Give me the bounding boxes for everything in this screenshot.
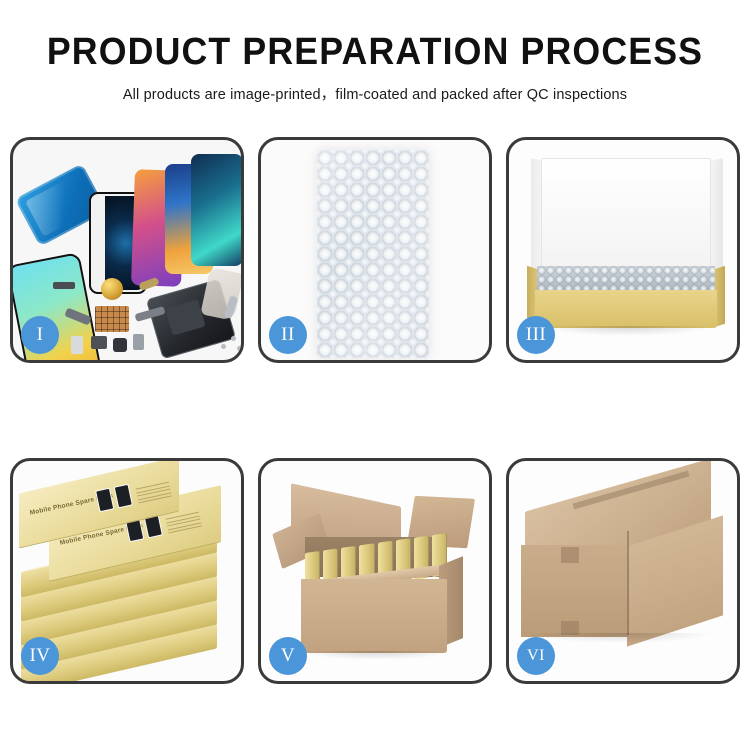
drop-shadow xyxy=(539,326,715,336)
screw-icon xyxy=(221,344,226,349)
page-subtitle: All products are image-printed，film-coat… xyxy=(0,86,750,104)
step-panel-4: Mobile Phone Spare Parts Mobile Phone Sp… xyxy=(10,458,244,684)
cyan-yellow-phone-icon xyxy=(10,252,102,363)
step-panel-6: VI xyxy=(506,458,740,684)
repair-tool-icon xyxy=(200,267,243,321)
step-panel-5: V xyxy=(258,458,492,684)
product-thumbnail xyxy=(95,488,114,513)
box-lid-icon xyxy=(541,158,711,276)
battery-strip-icon xyxy=(53,282,75,289)
header: PRODUCT PREPARATION PROCESS All products… xyxy=(0,0,750,104)
carton-tape-top xyxy=(561,547,579,563)
step-badge-4: IV xyxy=(21,637,59,675)
wrap-sheen xyxy=(317,150,429,358)
bubble-wrap-icon xyxy=(317,150,429,358)
product-preparation-infographic: PRODUCT PREPARATION PROCESS All products… xyxy=(0,0,750,750)
sim-tray-icon xyxy=(71,336,83,354)
carton-front xyxy=(301,579,447,653)
step-panel-3: III xyxy=(506,137,740,363)
step-badge-3: III xyxy=(517,316,555,354)
gold-chip-icon xyxy=(101,278,123,300)
connector-grid-icon xyxy=(95,306,129,332)
yellow-box-front xyxy=(535,290,717,328)
step-panel-1: I xyxy=(10,137,244,363)
camera-module-icon xyxy=(113,338,127,352)
page-title: PRODUCT PREPARATION PROCESS xyxy=(23,30,728,74)
vibrator-module-icon xyxy=(133,334,144,350)
step-panel-2: II xyxy=(258,137,492,363)
teal-phone-icon xyxy=(191,154,243,266)
drop-shadow xyxy=(525,633,715,643)
drop-shadow xyxy=(301,651,451,660)
screw-icon xyxy=(237,346,242,351)
step-badge-2: II xyxy=(269,316,307,354)
step-badge-5: V xyxy=(269,637,307,675)
screw-icon xyxy=(231,336,236,341)
carton-vertical-edge xyxy=(627,531,629,635)
step-badge-6: VI xyxy=(517,637,555,675)
step-badge-1: I xyxy=(21,316,59,354)
speaker-module-icon xyxy=(91,336,107,349)
steps-grid: I II III xyxy=(10,137,740,737)
